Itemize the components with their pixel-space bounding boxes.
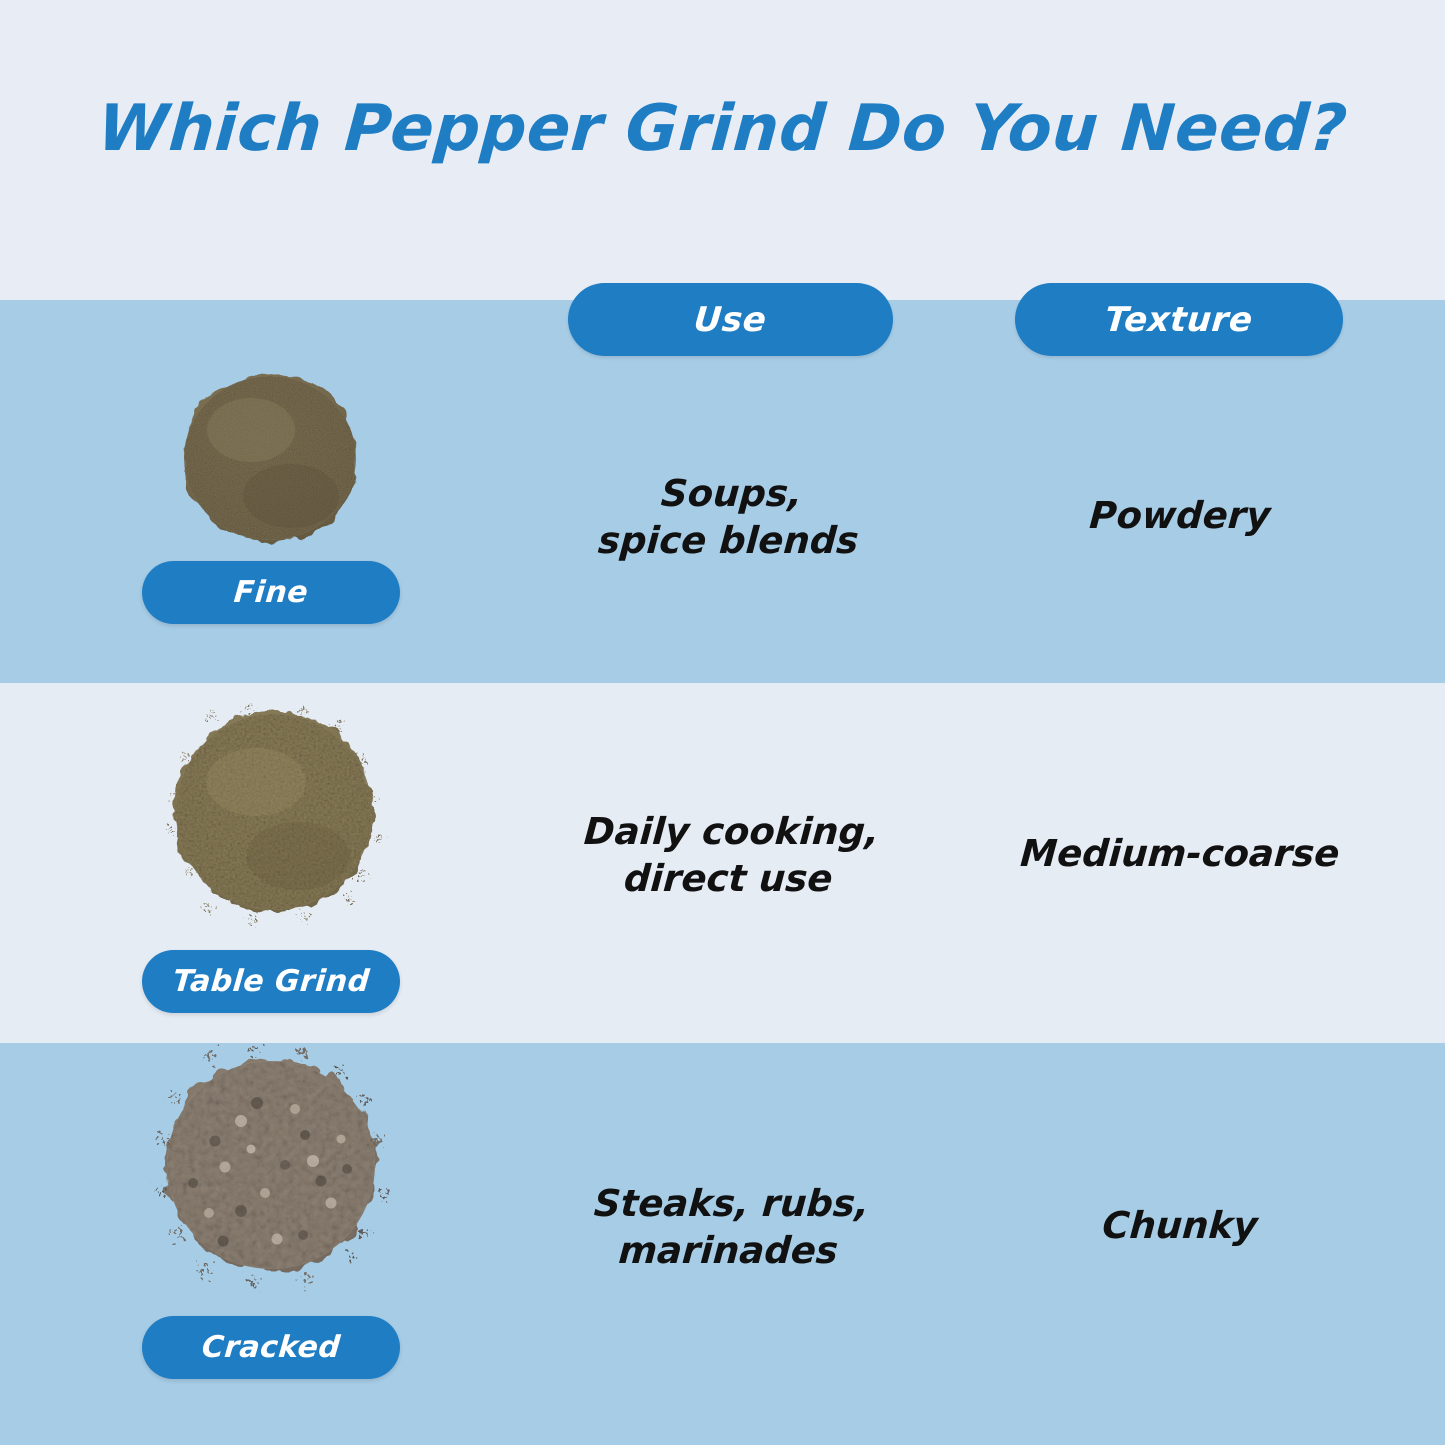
cell-use-cracked: Steaks, rubs, marinades bbox=[557, 1180, 904, 1275]
cell-use-table-grind: Daily cooking, direct use bbox=[557, 808, 904, 903]
grind-label-fine: Fine bbox=[142, 561, 400, 624]
column-header-use: Use bbox=[568, 283, 893, 356]
cracked-pepper-image bbox=[145, 1043, 395, 1293]
title-band: Which Pepper Grind Do You Need? bbox=[0, 0, 1445, 300]
grind-label-cracked: Cracked bbox=[142, 1316, 400, 1379]
column-header-texture: Texture bbox=[1015, 283, 1343, 356]
grind-label-table-grind: Table Grind bbox=[142, 950, 400, 1013]
column-header-use-label: Use bbox=[693, 300, 769, 340]
cell-texture-table-grind: Medium-coarse bbox=[1008, 830, 1351, 877]
grind-label-cracked-text: Cracked bbox=[200, 1330, 341, 1365]
infographic-page: Which Pepper Grind Do You Need? Use Text… bbox=[0, 0, 1445, 1445]
cell-texture-fine: Powdery bbox=[1008, 492, 1351, 539]
cell-use-fine: Soups, spice blends bbox=[557, 470, 904, 565]
cell-texture-cracked: Chunky bbox=[1008, 1202, 1351, 1249]
table-grind-pepper-image bbox=[152, 700, 392, 932]
grind-label-fine-text: Fine bbox=[232, 575, 309, 610]
page-title: Which Pepper Grind Do You Need? bbox=[95, 92, 1349, 166]
column-header-texture-label: Texture bbox=[1103, 300, 1254, 340]
grind-label-table-grind-text: Table Grind bbox=[171, 964, 371, 999]
fine-ground-pepper-image bbox=[163, 360, 378, 555]
